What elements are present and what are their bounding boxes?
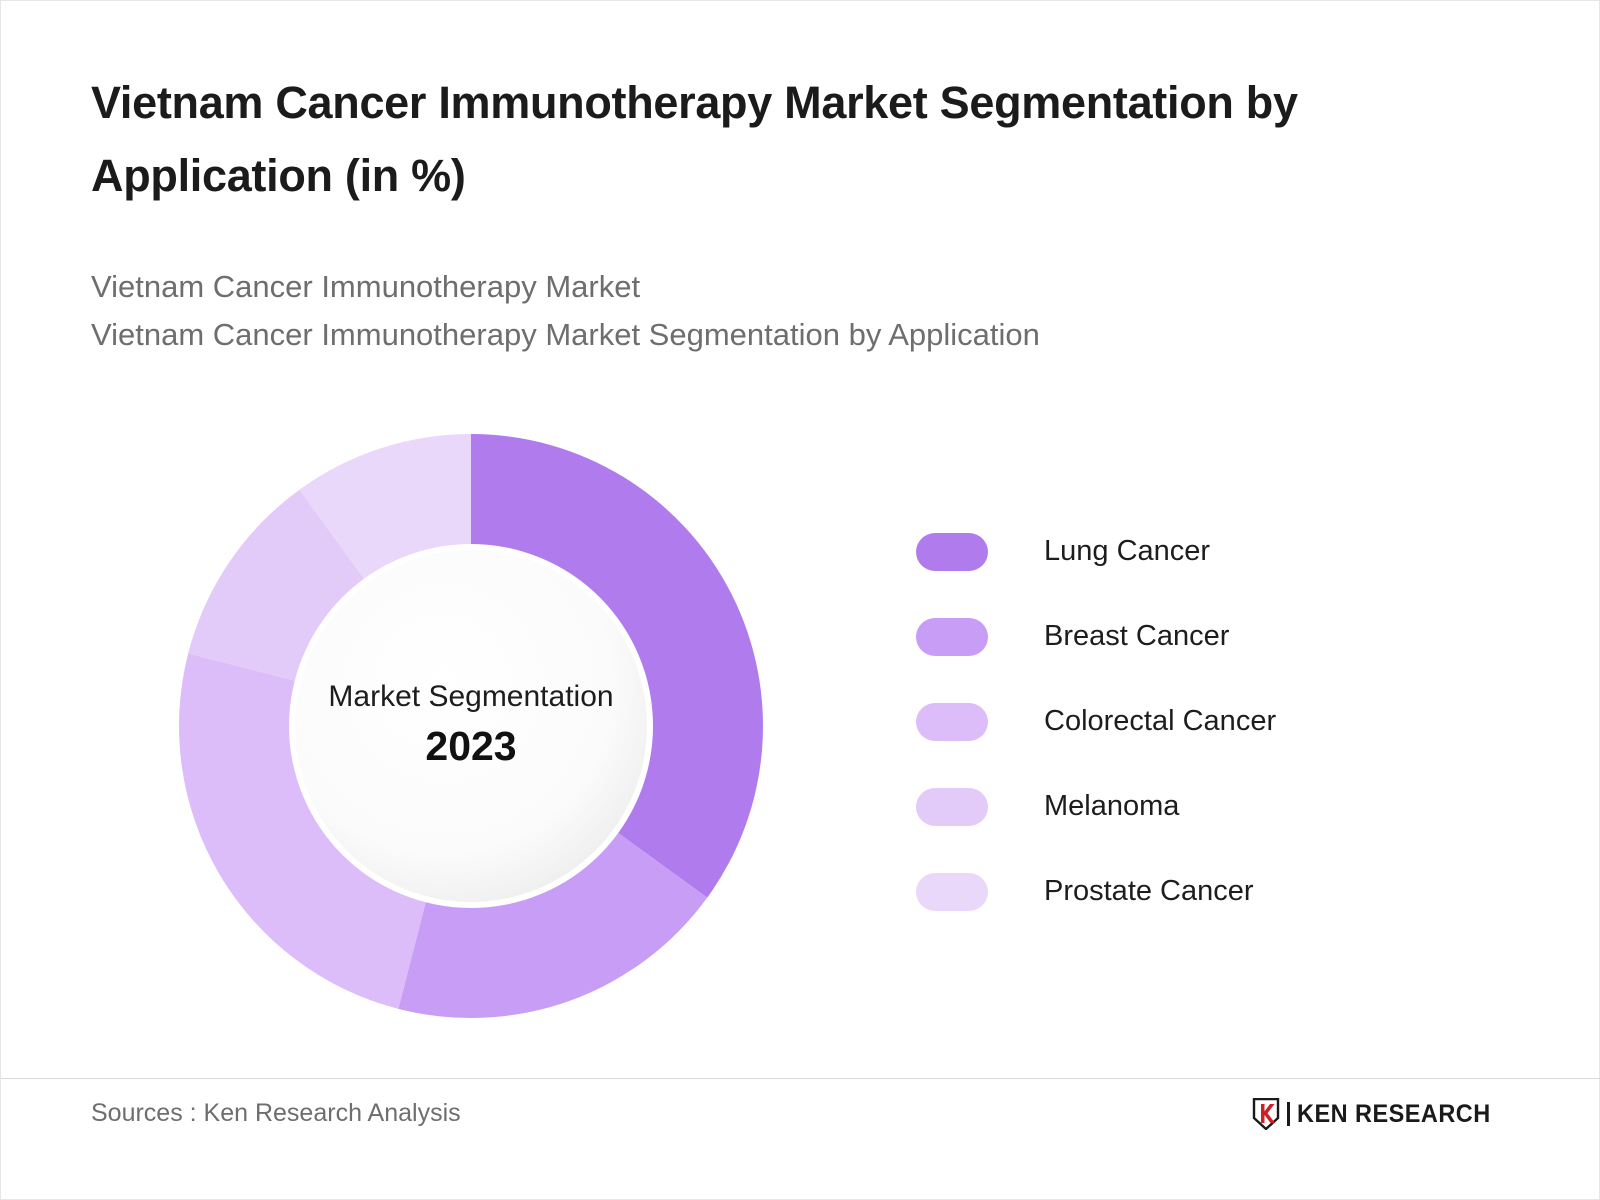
legend-item-prostate-cancer[interactable]: Prostate Cancer xyxy=(916,849,1476,934)
legend-item-colorectal-cancer[interactable]: Colorectal Cancer xyxy=(916,679,1476,764)
brand-name: KEN RESEARCH xyxy=(1297,1100,1491,1129)
footer-divider xyxy=(1,1078,1600,1079)
ken-shield-icon xyxy=(1252,1098,1280,1130)
legend-swatch-icon xyxy=(916,618,988,656)
donut-hole xyxy=(295,550,647,902)
brand-separator xyxy=(1287,1102,1290,1126)
legend-item-label: Breast Cancer xyxy=(1044,620,1229,653)
legend-item-label: Melanoma xyxy=(1044,790,1179,823)
legend-item-breast-cancer[interactable]: Breast Cancer xyxy=(916,594,1476,679)
legend-swatch-icon xyxy=(916,533,988,571)
chart-legend: Lung Cancer Breast Cancer Colorectal Can… xyxy=(916,509,1476,934)
legend-swatch-icon xyxy=(916,873,988,911)
donut-chart: Market Segmentation 2023 xyxy=(151,406,791,1046)
page-subtitle: Vietnam Cancer Immunotherapy Market Viet… xyxy=(91,263,1491,359)
legend-item-melanoma[interactable]: Melanoma xyxy=(916,764,1476,849)
page-title: Vietnam Cancer Immunotherapy Market Segm… xyxy=(91,67,1491,213)
subtitle-line-2: Vietnam Cancer Immunotherapy Market Segm… xyxy=(91,311,1491,359)
subtitle-line-1: Vietnam Cancer Immunotherapy Market xyxy=(91,263,1491,311)
sources-text: Sources : Ken Research Analysis xyxy=(91,1099,461,1128)
legend-item-label: Lung Cancer xyxy=(1044,535,1210,568)
chart-page: Vietnam Cancer Immunotherapy Market Segm… xyxy=(0,0,1600,1200)
legend-swatch-icon xyxy=(916,703,988,741)
legend-item-label: Colorectal Cancer xyxy=(1044,705,1276,738)
donut-chart-svg xyxy=(151,406,791,1046)
legend-item-label: Prostate Cancer xyxy=(1044,875,1254,908)
brand-logo: KEN RESEARCH xyxy=(1252,1097,1503,1131)
legend-swatch-icon xyxy=(916,788,988,826)
legend-item-lung-cancer[interactable]: Lung Cancer xyxy=(916,509,1476,594)
